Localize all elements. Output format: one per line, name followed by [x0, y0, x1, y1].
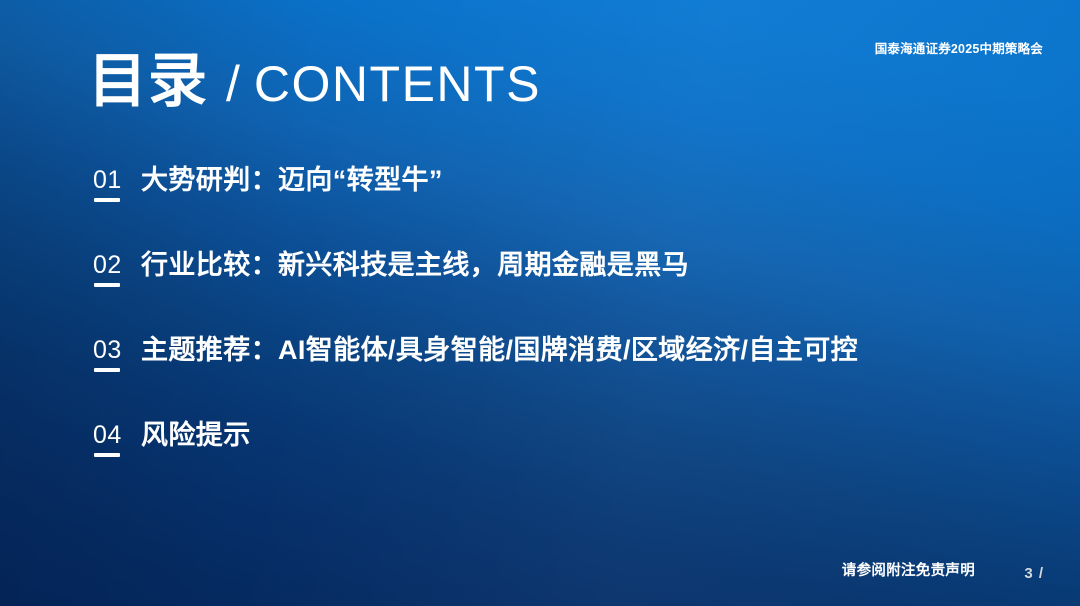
presentation-slide: 国泰海通证券2025中期策略会 目录 / CONTENTS 01 大势研判：迈向… — [0, 0, 1080, 606]
table-of-contents: 01 大势研判：迈向“转型牛” 02 行业比较：新兴科技是主线，周期金融是黑马 … — [93, 164, 1033, 504]
slide-title-separator: / — [226, 59, 240, 109]
toc-number-underline — [94, 368, 120, 372]
toc-item[interactable]: 02 行业比较：新兴科技是主线，周期金融是黑马 — [93, 249, 1033, 334]
slide-title-chinese: 目录 — [88, 52, 208, 111]
conference-header-note: 国泰海通证券2025中期策略会 — [875, 38, 1043, 57]
slide-title-english: CONTENTS — [254, 59, 541, 109]
toc-item-number: 04 — [93, 423, 141, 448]
toc-item-number: 02 — [93, 253, 141, 278]
toc-item-label: 大势研判：迈向“转型牛” — [141, 164, 443, 194]
toc-item-number: 01 — [93, 168, 141, 193]
toc-number-group: 03 — [93, 334, 141, 363]
toc-item[interactable]: 03 主题推荐：AI智能体/具身智能/国牌消费/区域经济/自主可控 — [93, 334, 1033, 419]
toc-number-underline — [94, 453, 120, 457]
toc-number-underline — [94, 283, 120, 287]
slide-title: 目录 / CONTENTS — [88, 52, 541, 111]
toc-item[interactable]: 04 风险提示 — [93, 419, 1033, 504]
toc-item-label: 行业比较：新兴科技是主线，周期金融是黑马 — [141, 249, 689, 279]
toc-number-group: 04 — [93, 419, 141, 448]
toc-number-underline — [94, 198, 120, 202]
toc-number-group: 01 — [93, 164, 141, 193]
toc-number-group: 02 — [93, 249, 141, 278]
disclaimer-note: 请参阅附注免责声明 — [842, 559, 975, 580]
page-number: 3 / — [1024, 565, 1044, 582]
toc-item-label: 风险提示 — [141, 419, 251, 449]
toc-item-number: 03 — [93, 338, 141, 363]
toc-item[interactable]: 01 大势研判：迈向“转型牛” — [93, 164, 1033, 249]
toc-item-label: 主题推荐：AI智能体/具身智能/国牌消费/区域经济/自主可控 — [141, 334, 858, 364]
